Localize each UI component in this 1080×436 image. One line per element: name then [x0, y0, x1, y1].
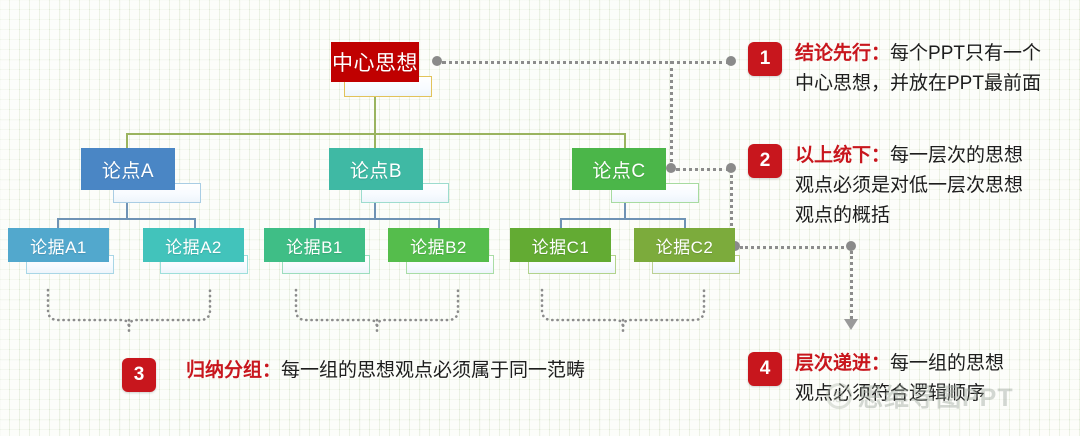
- route-line-vertical-lower: [850, 251, 853, 319]
- group-brace-c: [538, 288, 708, 334]
- legend-badge-4: 4: [748, 352, 782, 386]
- node-evidence-a2[interactable]: 论据A2: [143, 228, 244, 262]
- route-knob-rule2: [726, 163, 736, 173]
- legend-badge-3: 3: [122, 358, 156, 392]
- diagram-canvas: 中心思想 论点A 论点B 论点C 论据A1 论据A2 论据B1 论据B2 论据C…: [0, 0, 1080, 436]
- legend-line-2-1: 每一层次的思想: [890, 145, 1023, 166]
- node-evidence-c2[interactable]: 论据C2: [634, 228, 735, 262]
- legend-badge-2: 2: [748, 144, 782, 178]
- legend-line-2-2: 观点必须是对低一层次思想: [795, 175, 1023, 196]
- legend-text-1: 结论先行：每个PPT只有一个 中心思想，并放在PPT最前面: [795, 39, 1080, 99]
- route-line-c2-to-corner: [740, 246, 850, 249]
- node-evidence-a1[interactable]: 论据A1: [8, 228, 109, 262]
- legend-text-4: 层次递进：每一组的思想 观点必须符合逻辑顺序: [795, 349, 1080, 409]
- legend-line-1-2: 中心思想，并放在PPT最前面: [795, 73, 1041, 94]
- tree-line-a-bar: [57, 218, 196, 220]
- legend-badge-1: 1: [748, 42, 782, 76]
- group-brace-b: [292, 288, 462, 334]
- node-center-thought[interactable]: 中心思想: [331, 42, 419, 82]
- route-knob-rule1: [726, 56, 736, 66]
- legend-line-1-1: 每个PPT只有一个: [890, 43, 1041, 64]
- tree-line-c-stem: [624, 200, 626, 220]
- tree-line-root-stem: [374, 96, 376, 134]
- node-argument-b[interactable]: 论点B: [329, 148, 423, 190]
- route-line-vertical-upper: [670, 61, 673, 162]
- legend-keyword-1: 结论先行：: [795, 43, 890, 64]
- route-knob-corner-right: [846, 241, 856, 251]
- legend-line-2-3: 观点的概括: [795, 205, 890, 226]
- node-evidence-c1[interactable]: 论据C1: [510, 228, 611, 262]
- tree-line-b-stem: [374, 200, 376, 220]
- tree-line-spine: [126, 133, 626, 135]
- legend-keyword-4: 层次递进：: [795, 353, 890, 374]
- legend-text-2: 以上统下：每一层次的思想 观点必须是对低一层次思想 观点的概括: [795, 141, 1080, 231]
- route-line-root-to-1: [442, 61, 730, 64]
- route-arrow-down-icon: [844, 319, 858, 330]
- legend-line-4-1: 每一组的思想: [890, 353, 1004, 374]
- legend-text-3: 归纳分组：每一组的思想观点必须属于同一范畴: [186, 356, 706, 386]
- legend-line-4-2: 观点必须符合逻辑顺序: [795, 383, 985, 404]
- legend-keyword-2: 以上统下：: [795, 145, 890, 166]
- node-argument-a[interactable]: 论点A: [81, 148, 175, 190]
- tree-line-b-bar: [314, 218, 440, 220]
- legend-line-3-1: 每一组的思想观点必须属于同一范畴: [281, 360, 585, 381]
- node-argument-c[interactable]: 论点C: [572, 148, 666, 190]
- route-line-c-to-2: [676, 168, 730, 171]
- node-evidence-b2[interactable]: 论据B2: [388, 228, 489, 262]
- legend-keyword-3: 归纳分组：: [186, 360, 281, 381]
- tree-line-c-bar: [560, 218, 686, 220]
- group-brace-a: [44, 288, 214, 334]
- route-knob-root: [432, 56, 442, 66]
- tree-line-a-stem: [126, 200, 128, 220]
- route-knob-argument-c: [666, 163, 676, 173]
- node-evidence-b1[interactable]: 论据B1: [264, 228, 365, 262]
